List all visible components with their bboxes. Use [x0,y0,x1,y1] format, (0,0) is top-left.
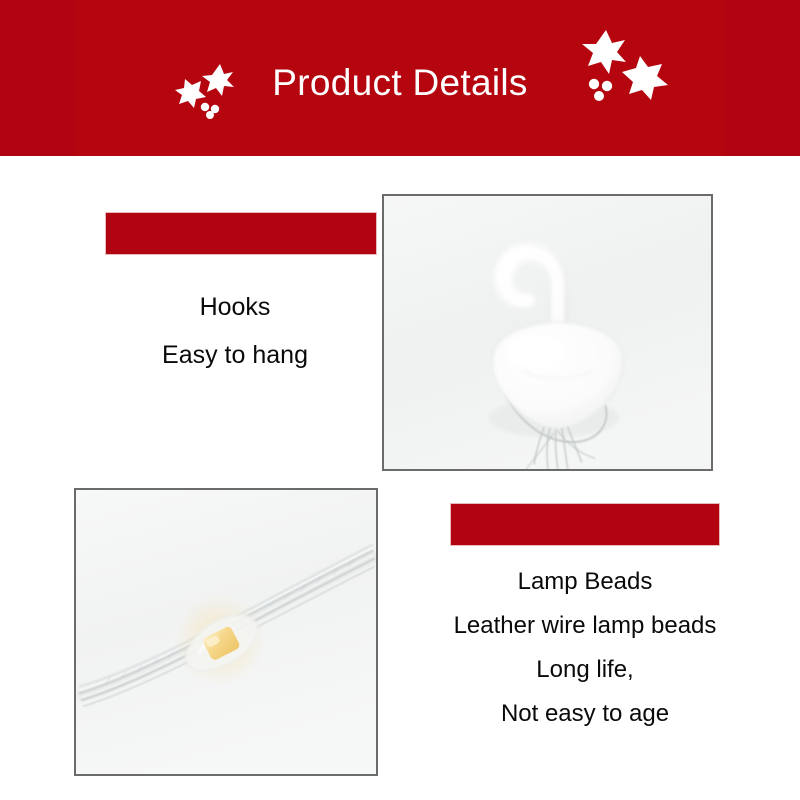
header-banner: Product Details [0,0,800,156]
product-details-page: Product Details Hooks Easy to hang [0,0,800,800]
lamp-beads-line-1: Lamp Beads [425,560,745,604]
page-title: Product Details [0,60,800,106]
section-hooks-red-bar [105,212,377,255]
hook-photo [382,194,713,471]
lamp-beads-line-2: Leather wire lamp beads [425,604,745,648]
hooks-line-2: Easy to hang [90,331,380,379]
section-lamp-beads-red-bar [450,503,720,546]
lamp-beads-line-3: Long life, [425,648,745,692]
lamp-beads-line-4: Not easy to age [425,692,745,736]
section-lamp-beads-text: Lamp Beads Leather wire lamp beads Long … [425,560,745,736]
lamp-bead-photo [74,488,378,776]
lamp-bead-photo-illustration [76,490,376,774]
hook-photo-illustration [384,196,711,469]
section-hooks-text: Hooks Easy to hang [90,283,380,379]
hooks-line-1: Hooks [90,283,380,331]
